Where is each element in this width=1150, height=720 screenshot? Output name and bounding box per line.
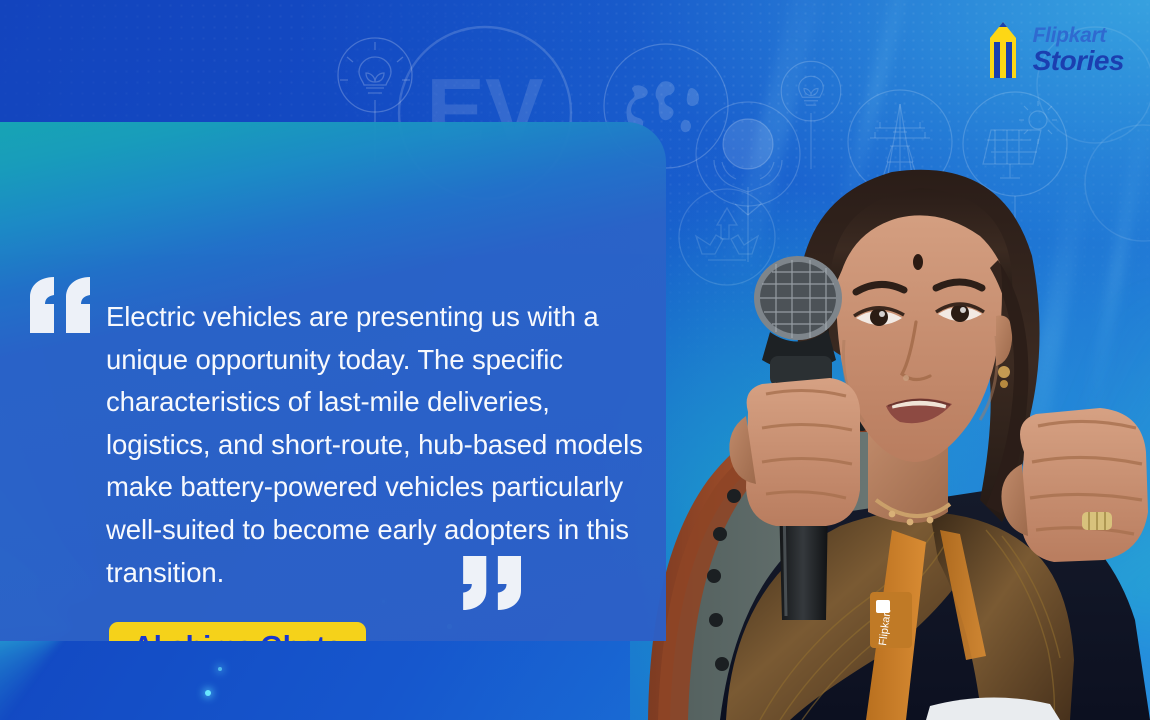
quote-card-graphic: EV <box>0 0 1150 720</box>
quote-text: Electric vehicles are presenting us with… <box>106 296 646 594</box>
speaker-portrait: Flipkart <box>630 60 1150 720</box>
flipkart-stories-logo[interactable]: Flipkart Stories <box>982 22 1124 78</box>
close-quote-icon <box>463 556 525 610</box>
pencil-icon <box>982 22 1024 78</box>
sparkle-dot <box>218 667 222 671</box>
logo-flipkart-text: Flipkart <box>1033 25 1124 46</box>
speaker-name-badge: Akshima Ghate <box>109 622 366 641</box>
sparkle-dot <box>205 690 211 696</box>
open-quote-icon <box>30 277 94 333</box>
quote-card: Electric vehicles are presenting us with… <box>0 122 666 641</box>
logo-stories-text: Stories <box>1033 47 1124 75</box>
